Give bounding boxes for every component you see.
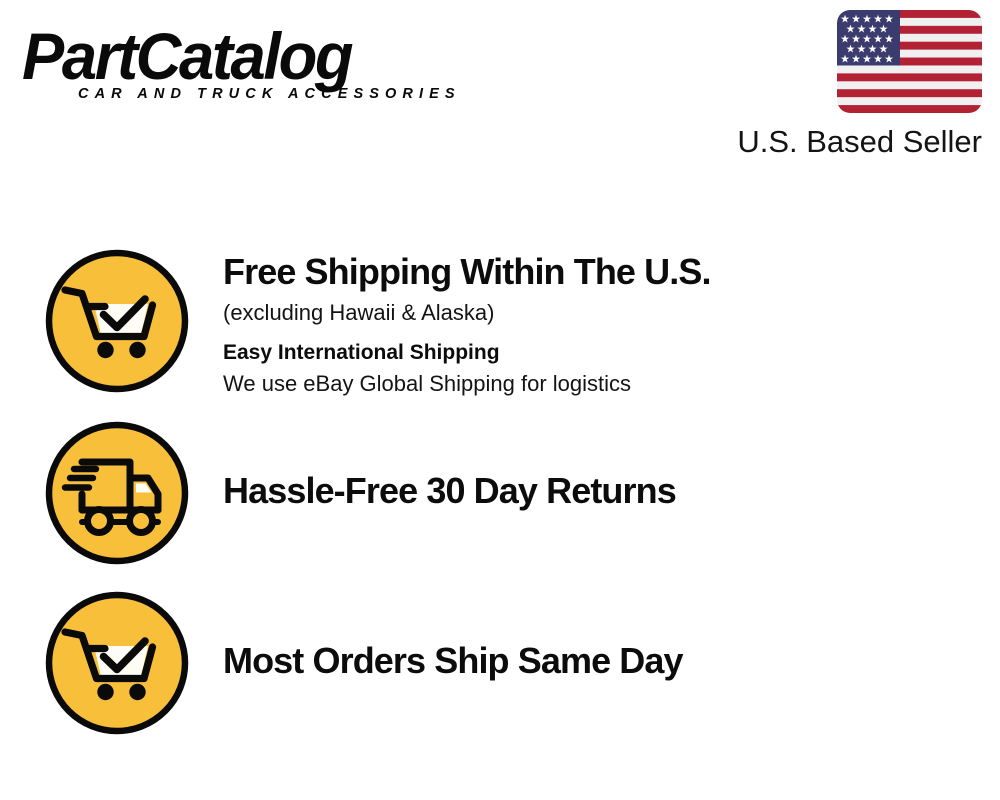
feature-subtitle-strong: Easy International Shipping xyxy=(223,338,711,368)
feature-title: Most Orders Ship Same Day xyxy=(223,639,683,683)
brand-wordmark: PartCatalog xyxy=(22,22,473,90)
feature-text-block: Most Orders Ship Same Day xyxy=(223,590,683,683)
feature-subtitle-detail: We use eBay Global Shipping for logistic… xyxy=(223,369,711,399)
feature-title: Free Shipping Within The U.S. xyxy=(223,250,711,294)
us-based-seller-label: U.S. Based Seller xyxy=(716,124,982,160)
feature-text-block: Hassle-Free 30 Day Returns xyxy=(223,420,676,513)
part-catalog-logo[interactable]: PartCatalog CAR AND TRUCK ACCESSORIES xyxy=(22,22,492,102)
us-flag-icon xyxy=(837,10,982,113)
us-based-seller-badge: U.S. Based Seller xyxy=(716,10,986,160)
feature-row: Hassle-Free 30 Day Returns xyxy=(44,420,676,566)
feature-title: Hassle-Free 30 Day Returns xyxy=(223,469,676,513)
shopping-cart-check-icon xyxy=(44,590,190,736)
delivery-truck-icon xyxy=(44,420,190,566)
feature-text-block: Free Shipping Within The U.S. (excluding… xyxy=(223,248,711,399)
feature-row: Most Orders Ship Same Day xyxy=(44,590,683,736)
feature-row: Free Shipping Within The U.S. (excluding… xyxy=(44,248,711,399)
page-header: PartCatalog CAR AND TRUCK ACCESSORIES xyxy=(0,0,1000,170)
shopping-cart-check-icon xyxy=(44,248,190,394)
feature-subtitle: (excluding Hawaii & Alaska) xyxy=(223,298,711,328)
